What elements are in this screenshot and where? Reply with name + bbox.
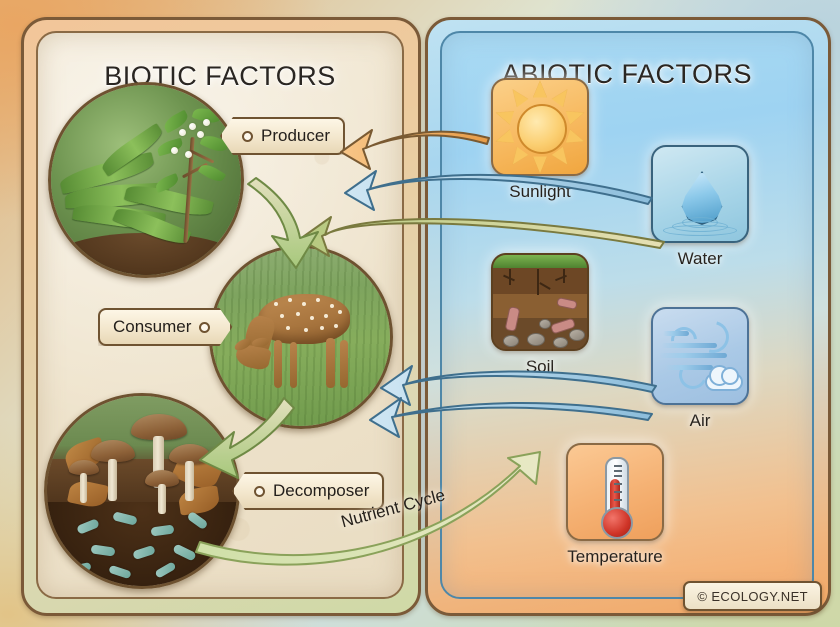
consumer-scene: [212, 248, 390, 426]
water-label: Water: [644, 249, 756, 269]
abiotic-item-temperature[interactable]: Temperature: [559, 443, 671, 567]
air-label: Air: [644, 411, 756, 431]
watermark-text: © ECOLOGY.NET: [697, 589, 808, 604]
decomposer-label[interactable]: Decomposer: [232, 472, 384, 510]
copyright-watermark: © ECOLOGY.NET: [683, 581, 822, 611]
soil-label: Soil: [484, 357, 596, 377]
abiotic-item-air[interactable]: Air: [644, 307, 756, 431]
consumer-label-text: Consumer: [113, 317, 191, 337]
tag-hole-icon: [242, 131, 253, 142]
ecology-diagram: BIOTIC FACTORS: [0, 0, 840, 627]
producer-scene: [51, 85, 241, 275]
wind-cloud-icon: [651, 307, 749, 405]
abiotic-item-soil[interactable]: Soil: [484, 253, 596, 377]
consumer-label[interactable]: Consumer: [98, 308, 232, 346]
producer-label[interactable]: Producer: [220, 117, 345, 155]
abiotic-item-sunlight[interactable]: Sunlight: [484, 78, 596, 202]
decomposer-image: [44, 393, 240, 589]
producer-label-text: Producer: [261, 126, 330, 146]
abiotic-item-water[interactable]: Water: [644, 145, 756, 269]
decomposer-label-text: Decomposer: [273, 481, 369, 501]
temperature-label: Temperature: [559, 547, 671, 567]
thermometer-icon: [566, 443, 664, 541]
tag-hole-icon: [254, 486, 265, 497]
sunlight-label: Sunlight: [484, 182, 596, 202]
sun-icon: [491, 78, 589, 176]
water-drop-icon: [651, 145, 749, 243]
soil-cross-section: [47, 502, 237, 586]
decomposer-scene: [47, 396, 237, 586]
tag-hole-icon: [199, 322, 210, 333]
soil-layers-icon: [491, 253, 589, 351]
